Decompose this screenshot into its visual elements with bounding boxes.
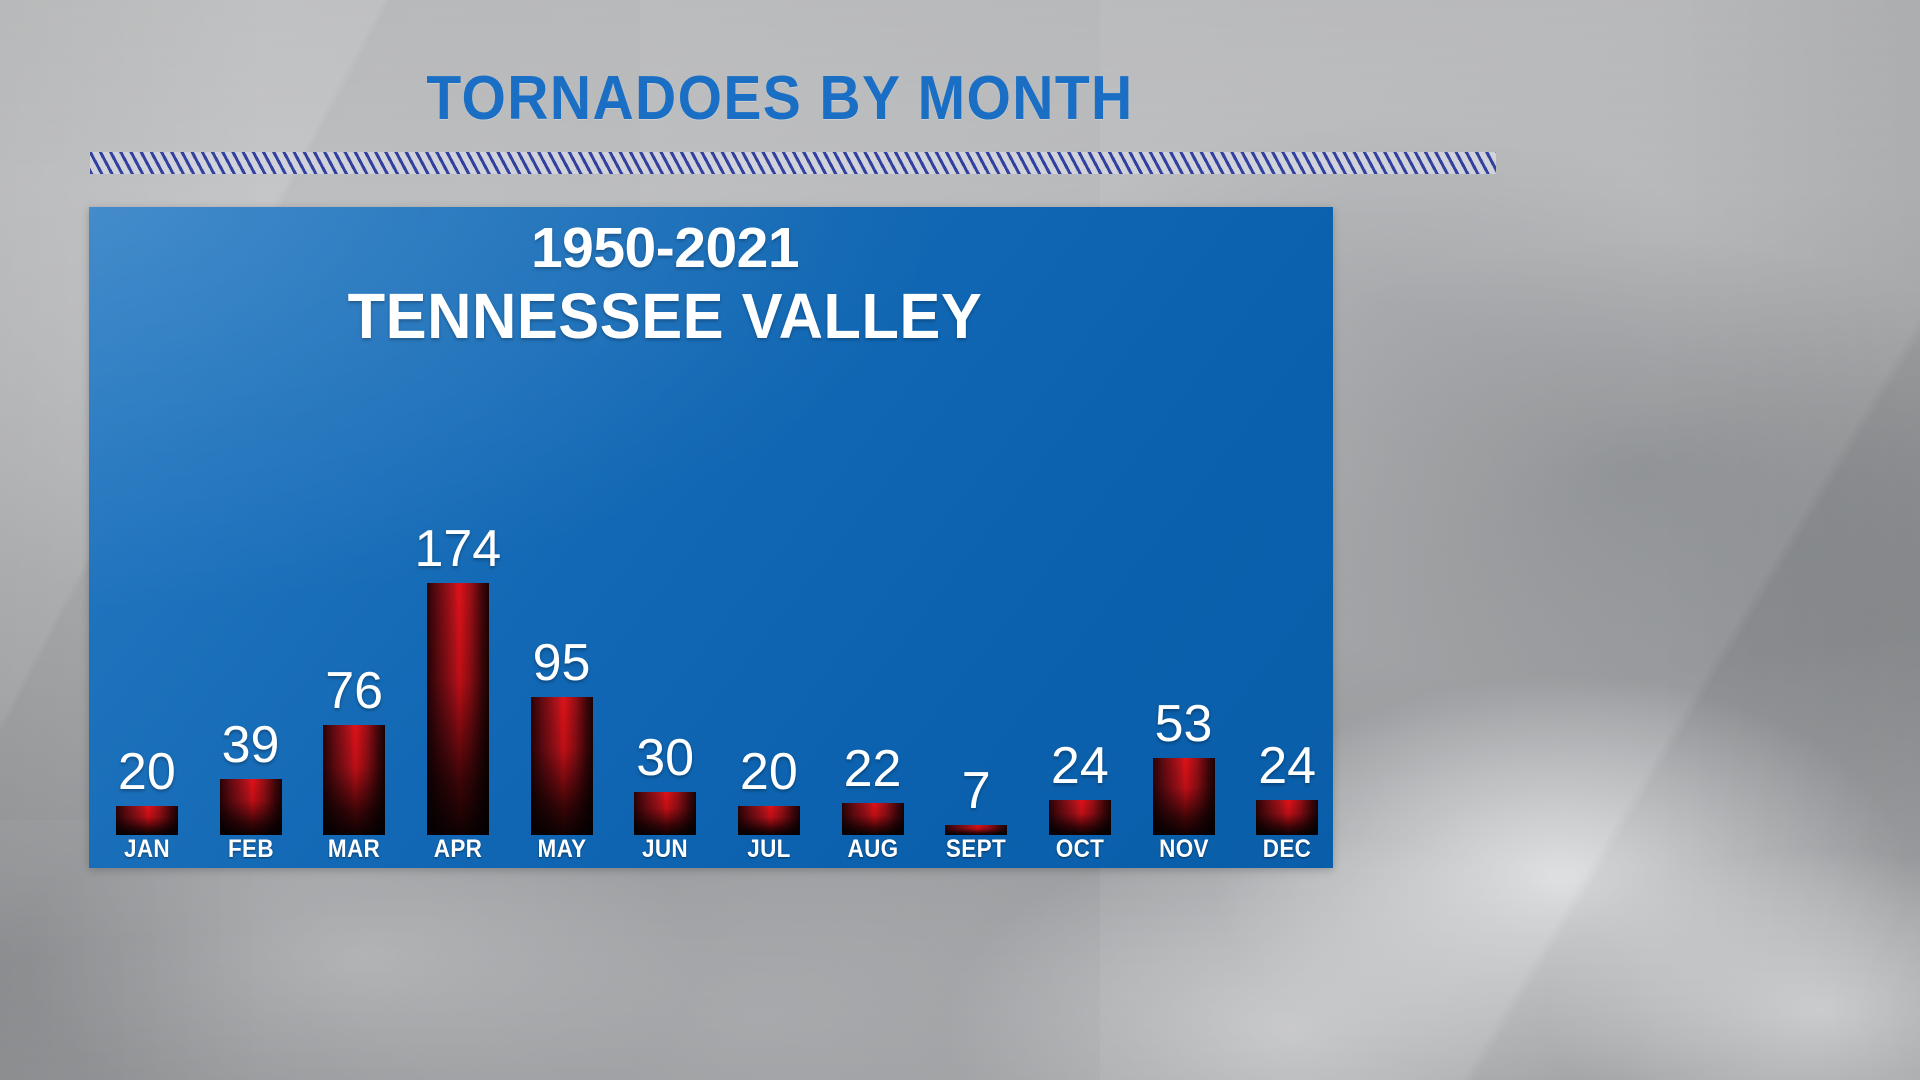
bar-column: 20JUL bbox=[730, 272, 807, 868]
bar-shading bbox=[1153, 758, 1215, 835]
diagonal-hatch-rule-icon bbox=[90, 152, 1496, 174]
bar-dec bbox=[1256, 800, 1318, 835]
bar-value-label: 53 bbox=[1155, 698, 1213, 750]
bar-value-label: 30 bbox=[636, 732, 694, 784]
bar-value-label: 24 bbox=[1258, 740, 1316, 792]
axis-label-mar: MAR bbox=[328, 835, 380, 864]
bar-column: 24DEC bbox=[1249, 272, 1326, 868]
axis-label-dec: DEC bbox=[1263, 835, 1312, 864]
axis-label-apr: APR bbox=[434, 835, 483, 864]
bar-column: 30JUN bbox=[627, 272, 704, 868]
bar-shading bbox=[323, 725, 385, 835]
bar-column: 174APR bbox=[419, 272, 496, 868]
axis-label-nov: NOV bbox=[1159, 835, 1209, 864]
bar-value-label: 39 bbox=[222, 719, 280, 771]
bar-chart-plot-area: 20JAN39FEB76MAR174APR95MAY30JUN20JUL22AU… bbox=[89, 272, 1333, 868]
axis-label-sept: SEPT bbox=[946, 835, 1006, 864]
bar-jan bbox=[116, 806, 178, 835]
bar-column: 95MAY bbox=[523, 272, 600, 868]
bar-value-label: 20 bbox=[118, 746, 176, 798]
panel-year-range: 1950-2021 bbox=[89, 219, 1333, 277]
axis-label-feb: FEB bbox=[227, 835, 273, 864]
bar-column: 53NOV bbox=[1145, 272, 1222, 868]
bar-shading bbox=[116, 806, 178, 835]
bar-mar bbox=[323, 725, 385, 835]
bar-value-label: 76 bbox=[325, 665, 383, 717]
bar-shading bbox=[1049, 800, 1111, 835]
bar-may bbox=[531, 697, 593, 835]
bar-shading bbox=[531, 697, 593, 835]
bar-oct bbox=[1049, 800, 1111, 835]
chart-panel: 1950-2021 TENNESSEE VALLEY 20JAN39FEB76M… bbox=[89, 207, 1333, 868]
bar-jul bbox=[738, 806, 800, 835]
bar-shading bbox=[1256, 800, 1318, 835]
bar-column: 39FEB bbox=[212, 272, 289, 868]
bar-apr bbox=[427, 583, 489, 835]
bar-column: 20JAN bbox=[108, 272, 185, 868]
axis-label-jun: JUN bbox=[642, 835, 688, 864]
bar-shading bbox=[220, 779, 282, 835]
axis-label-may: MAY bbox=[537, 835, 586, 864]
bar-value-label: 24 bbox=[1051, 740, 1109, 792]
bar-shading bbox=[738, 806, 800, 835]
bar-shading bbox=[427, 583, 489, 835]
bar-aug bbox=[842, 803, 904, 835]
bar-feb bbox=[220, 779, 282, 835]
bar-shading bbox=[945, 825, 1007, 835]
bar-sept bbox=[945, 825, 1007, 835]
axis-label-aug: AUG bbox=[847, 835, 898, 864]
bar-value-label: 174 bbox=[414, 523, 501, 575]
bar-nov bbox=[1153, 758, 1215, 835]
bar-value-label: 95 bbox=[533, 637, 591, 689]
bar-value-label: 20 bbox=[740, 746, 798, 798]
bar-value-label: 22 bbox=[844, 743, 902, 795]
bar-column: 7SEPT bbox=[938, 272, 1015, 868]
bar-jun bbox=[634, 792, 696, 835]
axis-label-oct: OCT bbox=[1056, 835, 1105, 864]
bar-shading bbox=[842, 803, 904, 835]
bar-shading bbox=[634, 792, 696, 835]
bar-column: 24OCT bbox=[1041, 272, 1118, 868]
weather-graphic: TORNADOES BY MONTH 1950-2021 TENNESSEE V… bbox=[0, 0, 1920, 1080]
bar-column: 22AUG bbox=[834, 272, 911, 868]
bar-value-label: 7 bbox=[962, 765, 991, 817]
bar-column: 76MAR bbox=[316, 272, 393, 868]
page-title: TORNADOES BY MONTH bbox=[62, 68, 1497, 130]
axis-label-jul: JUL bbox=[747, 835, 791, 864]
axis-label-jan: JAN bbox=[124, 835, 170, 864]
